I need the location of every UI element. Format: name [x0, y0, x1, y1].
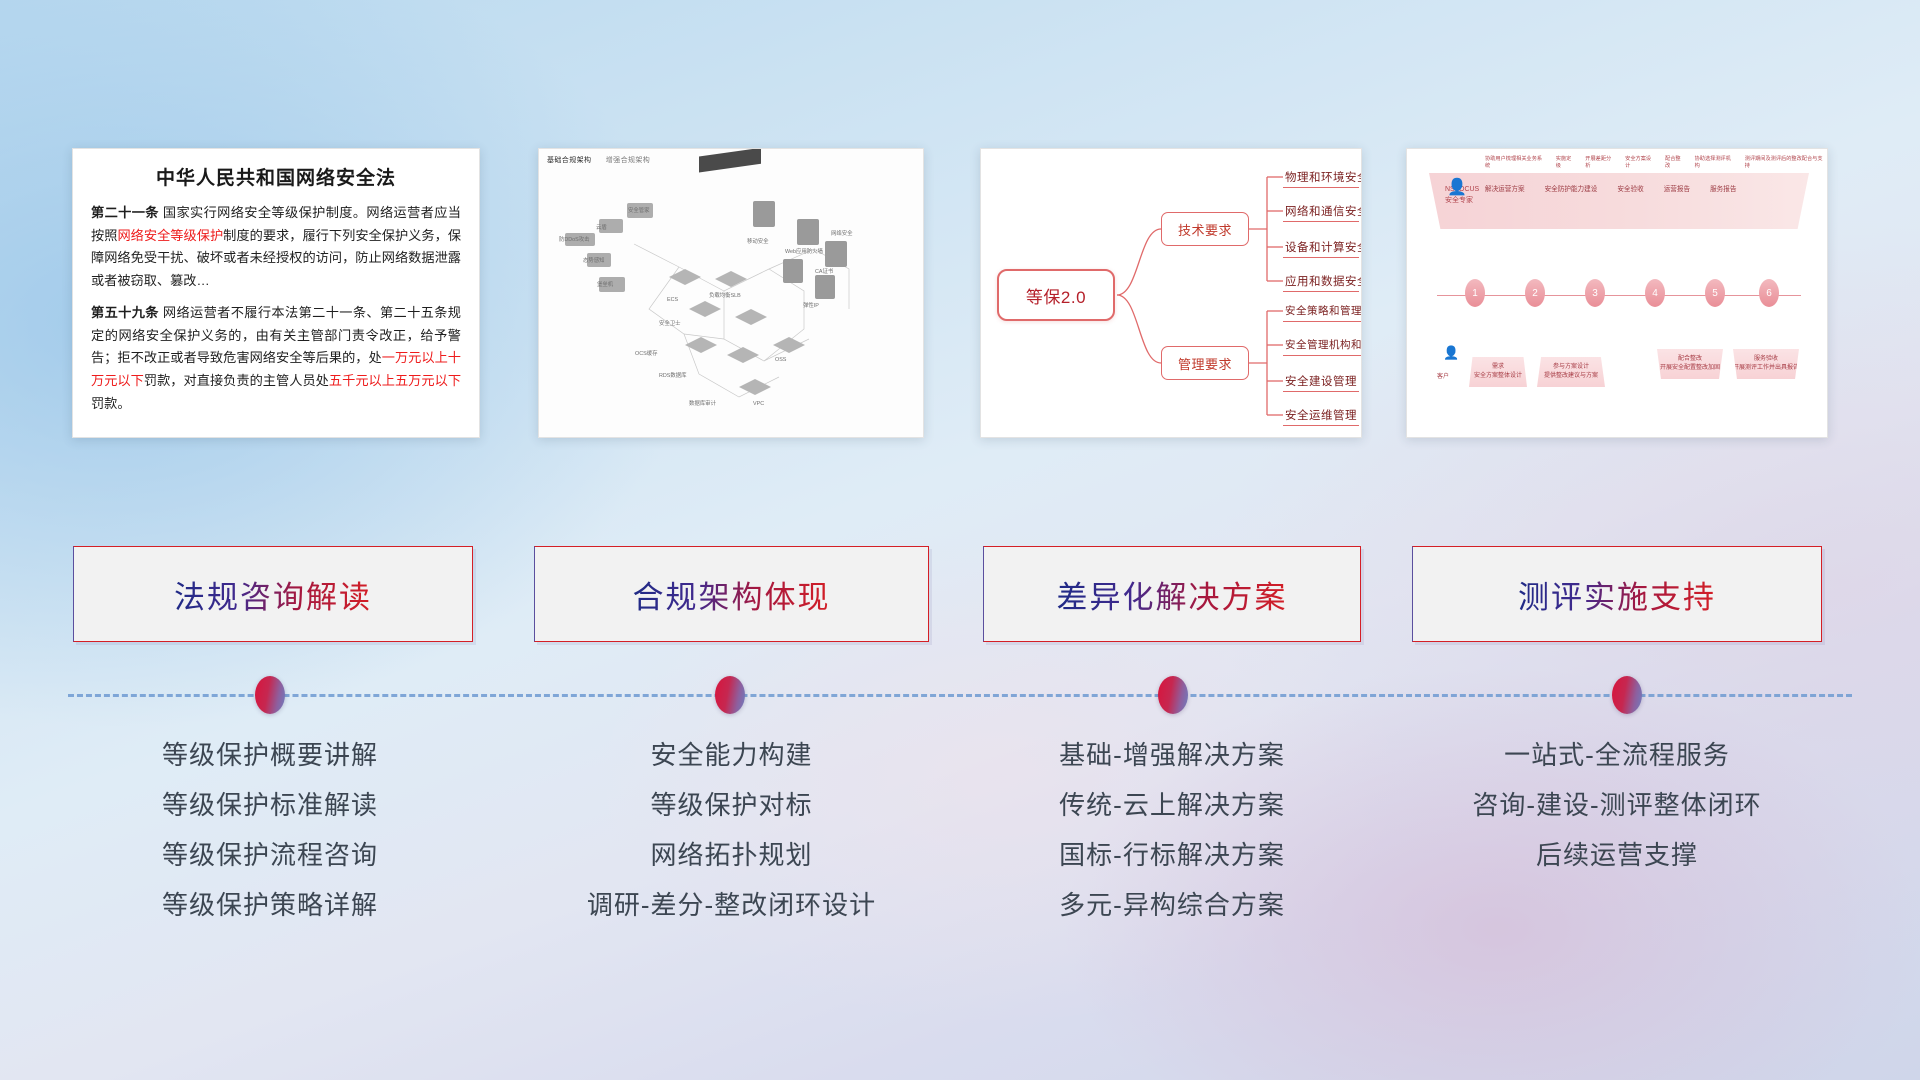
- mindmap-leaf-1-3: 安全运维管理: [1283, 404, 1359, 426]
- card-cybersecurity-law[interactable]: 中华人民共和国网络安全法 第二十一条 国家实行网络安全等级保护制度。网络运营者应…: [72, 148, 480, 438]
- mindmap-leaf-0-0: 物理和环境安全: [1283, 166, 1359, 188]
- card-mindmap-dengbao[interactable]: 等保2.0 技术要求 物理和环境安全 网络和通信安全 设备和计算安全 应用和数据…: [980, 148, 1362, 438]
- mindmap-leaf-1-2: 安全建设管理: [1283, 370, 1359, 392]
- timeline-dot-2[interactable]: [715, 676, 745, 714]
- timeline-connector: [0, 660, 1920, 730]
- thumbnail-card-row: 中华人民共和国网络安全法 第二十一条 国家实行网络安全等级保护制度。网络运营者应…: [0, 0, 1920, 440]
- timeline-dot-3[interactable]: [1158, 676, 1188, 714]
- detail-column-4: 一站式-全流程服务 咨询-建设-测评整体闭环 后续运营支撑: [1412, 742, 1822, 892]
- detail-item: 安全能力构建: [534, 742, 929, 768]
- architecture-diagram: 基础合规架构 增强合规架构: [539, 149, 923, 437]
- roadmap-chip-2: 配合整改 开展安全配置整改加固: [1657, 349, 1723, 379]
- pill-label-0: 法规咨询解读: [174, 572, 372, 617]
- pill-differentiated-solution[interactable]: 差异化解决方案: [983, 546, 1361, 642]
- svg-text:移动安全: 移动安全: [747, 237, 769, 245]
- roadmap-sub-3: 运营报告: [1664, 183, 1690, 193]
- svg-text:Web应用防火墙: Web应用防火墙: [785, 247, 824, 255]
- customer-person-icon: 👤: [1443, 345, 1459, 361]
- expert-person-icon: 👤: [1447, 177, 1467, 197]
- roadmap-step-1: 1: [1465, 279, 1485, 307]
- section-title-row: 法规咨询解读 合规架构体现 差异化解决方案 测评实施支持: [0, 546, 1920, 656]
- detail-columns: 等级保护概要讲解 等级保护标准解读 等级保护流程咨询 等级保护策略详解 安全能力…: [0, 742, 1920, 1042]
- roadmap-chip-2-line1: 配合整改: [1678, 355, 1702, 364]
- mindmap-leaf-1-0: 安全策略和管理制度: [1283, 300, 1362, 322]
- svg-text:RDS数据库: RDS数据库: [659, 371, 687, 379]
- slide-canvas: 中华人民共和国网络安全法 第二十一条 国家实行网络安全等级保护制度。网络运营者应…: [0, 0, 1920, 1080]
- timeline-dot-1[interactable]: [255, 676, 285, 714]
- detail-item: 调研-差分-整改闭环设计: [534, 892, 929, 918]
- roadmap-brand-line2: 安全专家: [1445, 196, 1479, 207]
- roadmap-tag-1: 实施定级: [1556, 155, 1577, 169]
- svg-text:VPC: VPC: [753, 401, 764, 407]
- roadmap-banner: NSFOCUS 安全专家: [1429, 173, 1809, 229]
- svg-text:网络安全: 网络安全: [831, 229, 853, 237]
- svg-text:堡垒机: 堡垒机: [597, 280, 614, 288]
- roadmap-step-6: 6: [1759, 279, 1779, 307]
- svg-text:弹性IP: 弹性IP: [803, 301, 819, 309]
- roadmap-tag-4: 配合整改: [1665, 155, 1686, 169]
- detail-item: 咨询-建设-测评整体闭环: [1412, 792, 1822, 818]
- detail-item: 国标-行标解决方案: [983, 842, 1361, 868]
- detail-item: 基础-增强解决方案: [983, 742, 1361, 768]
- law-article-59: 第五十九条 网络运营者不履行本法第二十一条、第二十五条规定的网络安全保护义务的，…: [91, 302, 461, 416]
- timeline-dashed-line: [68, 694, 1852, 697]
- roadmap-chip-0-line1: 需求: [1492, 363, 1504, 372]
- svg-text:OCS缓存: OCS缓存: [635, 349, 658, 357]
- pill-label-1: 合规架构体现: [633, 572, 831, 617]
- pill-label-3: 测评实施支持: [1518, 572, 1716, 617]
- mindmap-branch-management: 管理要求: [1161, 346, 1249, 380]
- mindmap-leaf-0-1: 网络和通信安全: [1283, 200, 1359, 222]
- mindmap-leaf-0-3: 应用和数据安全: [1283, 270, 1359, 292]
- svg-text:防DDoS攻击: 防DDoS攻击: [559, 235, 590, 243]
- roadmap-chip-3-line1: 服务验收: [1754, 355, 1778, 364]
- detail-item: 一站式-全流程服务: [1412, 742, 1822, 768]
- law-document: 中华人民共和国网络安全法 第二十一条 国家实行网络安全等级保护制度。网络运营者应…: [73, 149, 479, 434]
- architecture-svg: 云盾 安全管家 防DDoS攻击 态势感知 堡垒机 ECS 负载均衡SLB 安全卫…: [539, 149, 924, 438]
- roadmap-tag-5: 协助选择测评机构: [1695, 155, 1736, 169]
- mindmap-branch-technical: 技术要求: [1161, 212, 1249, 246]
- pill-regulation-consulting[interactable]: 法规咨询解读: [73, 546, 473, 642]
- roadmap-axis: [1437, 295, 1801, 296]
- roadmap-chip-3-line2: 开展测评工作并出具报告: [1733, 364, 1799, 373]
- customer-label: 客户: [1437, 371, 1449, 380]
- detail-item: 等级保护概要讲解: [70, 742, 470, 768]
- article-59-highlight-b: 五千元以上五万元以下: [329, 373, 461, 388]
- pill-assessment-support[interactable]: 测评实施支持: [1412, 546, 1822, 642]
- roadmap-chip-3: 服务验收 开展测评工作并出具报告: [1733, 349, 1799, 379]
- roadmap-step-2: 2: [1525, 279, 1545, 307]
- detail-item: 等级保护策略详解: [70, 892, 470, 918]
- detail-column-2: 安全能力构建 等级保护对标 网络拓扑规划 调研-差分-整改闭环设计: [534, 742, 929, 942]
- mindmap-leaf-0-2: 设备和计算安全: [1283, 236, 1359, 258]
- article-59-label: 第五十九条: [91, 305, 159, 320]
- roadmap-step-3: 3: [1585, 279, 1605, 307]
- roadmap-chip-2-line2: 开展安全配置整改加固: [1660, 364, 1720, 373]
- detail-item: 多元-异构综合方案: [983, 892, 1361, 918]
- svg-text:态势感知: 态势感知: [583, 256, 605, 264]
- roadmap-sub-1: 安全防护能力建设: [1545, 183, 1598, 193]
- detail-item: 等级保护标准解读: [70, 792, 470, 818]
- pill-compliance-architecture[interactable]: 合规架构体现: [534, 546, 929, 642]
- roadmap-header-subs: 解决运营方案 安全防护能力建设 安全验收 运营报告 服务报告: [1485, 183, 1736, 193]
- roadmap-tag-0: 协助用户梳理相关业务系统: [1485, 155, 1547, 169]
- roadmap-tag-6: 测评期间及测评后的整改配合与支持: [1745, 155, 1827, 169]
- timeline-dot-4[interactable]: [1612, 676, 1642, 714]
- detail-column-1: 等级保护概要讲解 等级保护标准解读 等级保护流程咨询 等级保护策略详解: [70, 742, 470, 942]
- svg-text:CA证书: CA证书: [815, 267, 834, 275]
- roadmap-tag-3: 安全方案设计: [1625, 155, 1656, 169]
- mindmap-leaf-1-1: 安全管理机构和人员: [1283, 334, 1362, 356]
- mindmap-diagram: 等保2.0 技术要求 物理和环境安全 网络和通信安全 设备和计算安全 应用和数据…: [981, 149, 1361, 437]
- law-title: 中华人民共和国网络安全法: [91, 163, 461, 190]
- roadmap-tag-2: 开展差距分析: [1585, 155, 1616, 169]
- roadmap-diagram: NSFOCUS 安全专家 👤 协助用户梳理相关业务系统 实施定级 开展差距分析 …: [1407, 149, 1827, 437]
- roadmap-chip-0: 需求 安全方案整体设计: [1469, 357, 1527, 387]
- roadmap-chip-1-line1: 参与方案设计: [1553, 363, 1589, 372]
- article-21-highlight: 网络安全等级保护: [117, 228, 223, 243]
- roadmap-sub-4: 服务报告: [1710, 183, 1736, 193]
- mindmap-root: 等保2.0: [997, 269, 1115, 321]
- svg-text:安全卫士: 安全卫士: [659, 319, 681, 327]
- article-59-text-b: 罚款，对直接负责的主管人员处: [144, 373, 329, 388]
- detail-item: 传统-云上解决方案: [983, 792, 1361, 818]
- law-article-21: 第二十一条 国家实行网络安全等级保护制度。网络运营者应当按照网络安全等级保护制度…: [91, 202, 461, 293]
- roadmap-chip-0-line2: 安全方案整体设计: [1474, 372, 1522, 381]
- svg-text:OSS: OSS: [775, 357, 787, 363]
- pill-label-2: 差异化解决方案: [1057, 572, 1288, 617]
- roadmap-step-4: 4: [1645, 279, 1665, 307]
- svg-text:数据库审计: 数据库审计: [689, 399, 717, 407]
- detail-item: 网络拓扑规划: [534, 842, 929, 868]
- card-compliance-architecture[interactable]: 基础合规架构 增强合规架构: [538, 148, 924, 438]
- svg-text:负载均衡SLB: 负载均衡SLB: [709, 291, 741, 299]
- article-59-text-c: 罚款。: [91, 396, 131, 411]
- roadmap-sub-2: 安全验收: [1617, 183, 1643, 193]
- svg-text:安全管家: 安全管家: [628, 206, 650, 214]
- detail-item: 等级保护对标: [534, 792, 929, 818]
- detail-item: 等级保护流程咨询: [70, 842, 470, 868]
- roadmap-chip-1: 参与方案设计 提供整改建议与方案: [1537, 357, 1605, 387]
- svg-text:云盾: 云盾: [596, 224, 607, 231]
- roadmap-header-tags: 协助用户梳理相关业务系统 实施定级 开展差距分析 安全方案设计 配合整改 协助选…: [1485, 155, 1827, 169]
- roadmap-sub-0: 解决运营方案: [1485, 183, 1525, 193]
- detail-column-3: 基础-增强解决方案 传统-云上解决方案 国标-行标解决方案 多元-异构综合方案: [983, 742, 1361, 942]
- article-21-label: 第二十一条: [91, 205, 159, 220]
- roadmap-step-5: 5: [1705, 279, 1725, 307]
- card-assessment-roadmap[interactable]: NSFOCUS 安全专家 👤 协助用户梳理相关业务系统 实施定级 开展差距分析 …: [1406, 148, 1828, 438]
- roadmap-chip-1-line2: 提供整改建议与方案: [1544, 372, 1598, 381]
- svg-text:ECS: ECS: [667, 297, 678, 303]
- detail-item: 后续运营支撑: [1412, 842, 1822, 868]
